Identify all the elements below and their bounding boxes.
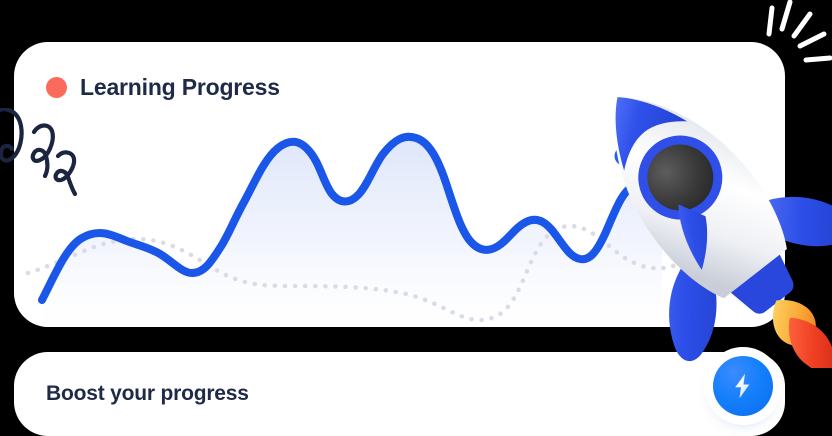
learning-progress-card: Learning Progress (14, 42, 785, 327)
chart-area-fill (42, 137, 662, 327)
boost-action-button[interactable] (713, 356, 773, 416)
chart-endpoint-marker[interactable] (615, 147, 634, 166)
card-header: Learning Progress (46, 74, 280, 101)
boost-progress-card: Boost your progress (14, 352, 785, 436)
page-title: Learning Progress (80, 74, 280, 101)
boost-card-title: Boost your progress (46, 382, 249, 406)
screen-root: Learning Progress Boost your progress (0, 0, 832, 436)
lightning-bolt-icon (728, 371, 758, 401)
status-dot (46, 77, 67, 98)
